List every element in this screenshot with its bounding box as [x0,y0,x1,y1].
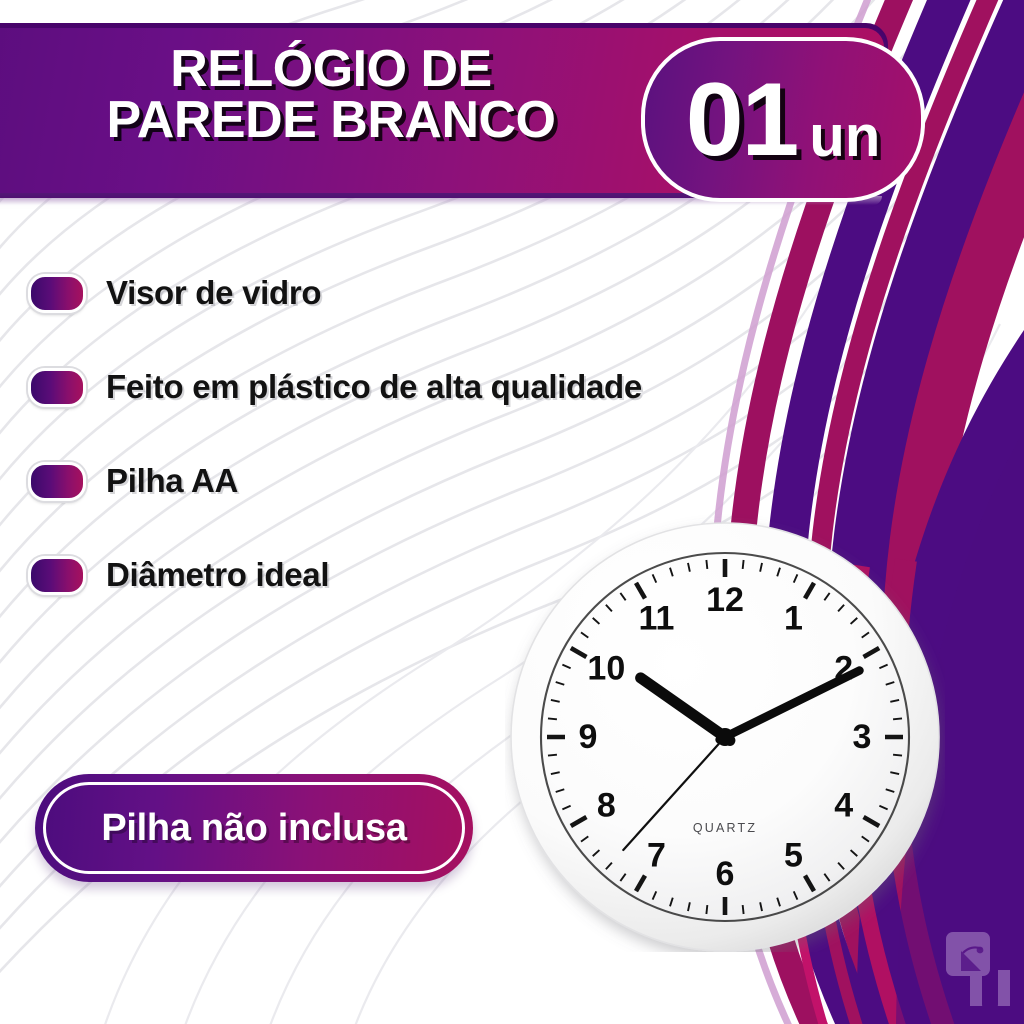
clock-numeral: 1 [784,599,803,637]
brand-logo-watermark [944,930,1014,1006]
feature-item: Feito em plástico de alta qualidade [28,356,788,418]
clock-numeral: 7 [647,837,666,875]
clock-numeral: 4 [834,787,853,825]
feature-label: Diâmetro ideal [106,556,329,594]
clock-numeral: 9 [579,718,598,756]
feature-label: Visor de vidro [106,274,321,312]
quantity-value: 01 [686,68,798,172]
clock-numeral: 12 [706,581,744,619]
wall-clock-product-image: 121234567891011 QUARTZ [505,512,945,952]
bullet-pill-icon [28,556,86,595]
feature-label: Pilha AA [106,462,238,500]
header-banner: RELÓGIO DE PAREDE BRANCO 01 un [0,23,888,198]
feature-item: Pilha AA [28,450,788,512]
clock-numeral: 10 [587,650,625,688]
bullet-pill-icon [28,368,86,407]
page-title: RELÓGIO DE PAREDE BRANCO [66,44,596,147]
feature-label: Feito em plástico de alta qualidade [106,368,642,406]
clock-numeral: 5 [784,837,803,875]
clock-numeral: 6 [716,855,735,893]
clock-brand-text: QUARTZ [693,821,757,835]
quantity-unit: un [809,108,880,166]
clock-numeral: 3 [853,718,872,756]
disclaimer-badge: Pilha não inclusa [35,774,473,882]
bullet-pill-icon [28,274,86,313]
disclaimer-label: Pilha não inclusa [101,807,406,850]
feature-item: Visor de vidro [28,262,788,324]
title-line-2: PAREDE BRANCO [66,95,596,146]
product-banner-canvas: RELÓGIO DE PAREDE BRANCO 01 un Visor de … [0,0,1024,1024]
clock-numeral: 11 [639,599,675,637]
quantity-badge: 01 un [641,37,925,202]
clock-numeral: 8 [597,787,616,825]
bullet-pill-icon [28,462,86,501]
title-line-1: RELÓGIO DE [170,40,491,98]
banner-body: RELÓGIO DE PAREDE BRANCO 01 un [0,28,884,193]
clock-center-hub [716,728,734,746]
